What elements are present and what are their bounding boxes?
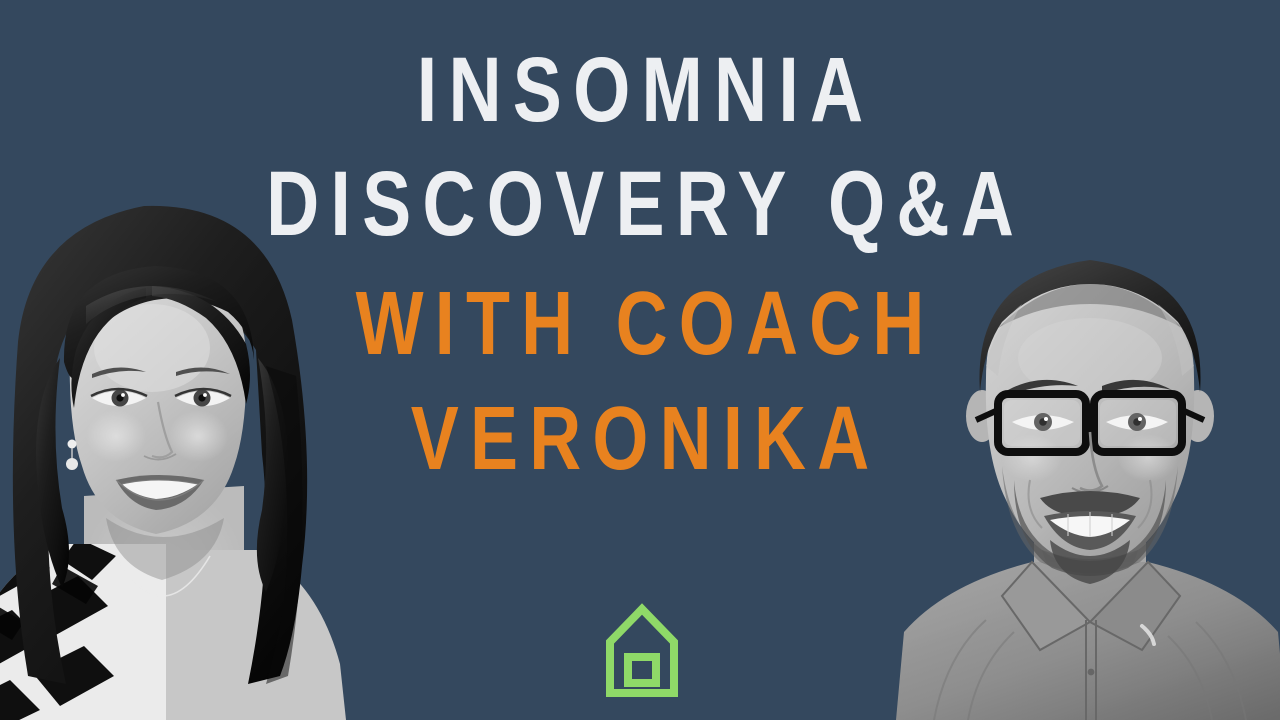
thumbnail-canvas: INSOMNIA DISCOVERY Q&A WITH COACH VERONI… — [0, 0, 1280, 720]
house-logo — [605, 600, 679, 698]
title-line-insomnia: INSOMNIA — [128, 44, 1152, 136]
polo-shirt — [896, 562, 1280, 720]
portrait-woman — [0, 136, 366, 720]
earring — [66, 440, 78, 471]
house-inner-square-icon — [628, 657, 656, 683]
portrait-man — [890, 180, 1280, 720]
